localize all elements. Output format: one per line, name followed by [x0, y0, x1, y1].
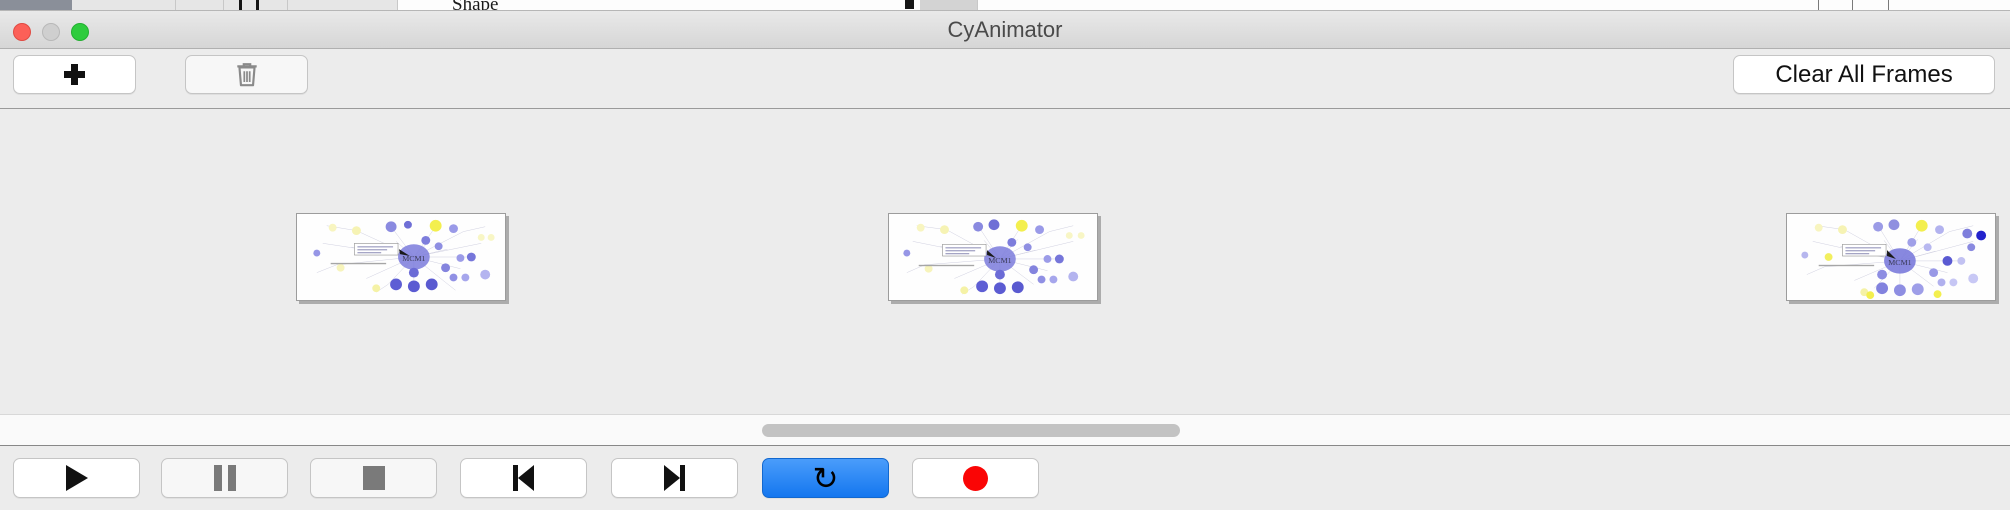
plus-icon	[64, 64, 85, 85]
trash-icon	[234, 61, 260, 89]
delete-frame-button[interactable]	[185, 55, 308, 94]
skip-forward-icon	[664, 465, 685, 491]
clear-all-frames-label: Clear All Frames	[1775, 61, 1952, 89]
add-frame-button[interactable]	[13, 55, 136, 94]
background-window-label: Shape	[452, 0, 498, 11]
background-tab	[920, 0, 978, 11]
network-preview: MCM1	[297, 214, 505, 300]
record-button[interactable]	[912, 458, 1039, 498]
timeline-scrollbar[interactable]	[0, 414, 2010, 446]
title-bar: CyAnimator	[0, 11, 2010, 49]
skip-to-end-button[interactable]	[611, 458, 738, 498]
frame-thumbnail-3[interactable]: MCM1	[1786, 213, 1996, 301]
background-mark	[905, 0, 914, 9]
background-sidebar	[0, 0, 72, 11]
skip-back-icon	[513, 465, 534, 491]
record-icon	[963, 466, 988, 491]
network-graph: MCM1	[889, 214, 1097, 300]
background-tab	[288, 0, 398, 11]
clear-all-frames-button[interactable]: Clear All Frames	[1733, 55, 1995, 94]
stop-icon	[363, 466, 385, 490]
background-window-strip: Shape	[0, 0, 2010, 11]
background-mark	[256, 0, 259, 11]
frame-thumbnail-2[interactable]: MCM1	[888, 213, 1098, 301]
network-preview: MCM1	[1787, 214, 1995, 300]
timeline-scrollbar-thumb[interactable]	[762, 424, 1180, 437]
background-tab	[176, 0, 224, 11]
background-tick	[1888, 0, 1889, 11]
loop-icon: ↻	[813, 463, 839, 494]
skip-to-start-button[interactable]	[460, 458, 587, 498]
frame-thumbnail-1[interactable]: MCM1	[296, 213, 506, 301]
timeline-panel[interactable]: MCM1	[0, 110, 2010, 414]
network-graph: MCM1	[1787, 214, 1995, 300]
loop-button[interactable]: ↻	[762, 458, 889, 498]
hub-node-label-3: MCM1	[1888, 258, 1911, 267]
background-tab	[72, 0, 176, 11]
background-mark	[239, 0, 242, 11]
hub-node-label-1: MCM1	[402, 254, 425, 263]
pause-icon	[214, 465, 236, 491]
pause-button[interactable]	[161, 458, 288, 498]
window-title: CyAnimator	[0, 11, 2010, 49]
hub-node-label-2: MCM1	[988, 256, 1011, 265]
cyanimator-window: Shape CyAnimator Clear All Frames	[0, 0, 2010, 510]
network-preview: MCM1	[889, 214, 1097, 300]
network-graph: MCM1	[297, 214, 505, 300]
play-button[interactable]	[13, 458, 140, 498]
stop-button[interactable]	[310, 458, 437, 498]
play-icon	[66, 465, 88, 491]
background-tick	[1818, 0, 1819, 11]
background-tick	[1852, 0, 1853, 11]
playback-toolbar: ↻ Animation Speed:	[0, 446, 2010, 510]
